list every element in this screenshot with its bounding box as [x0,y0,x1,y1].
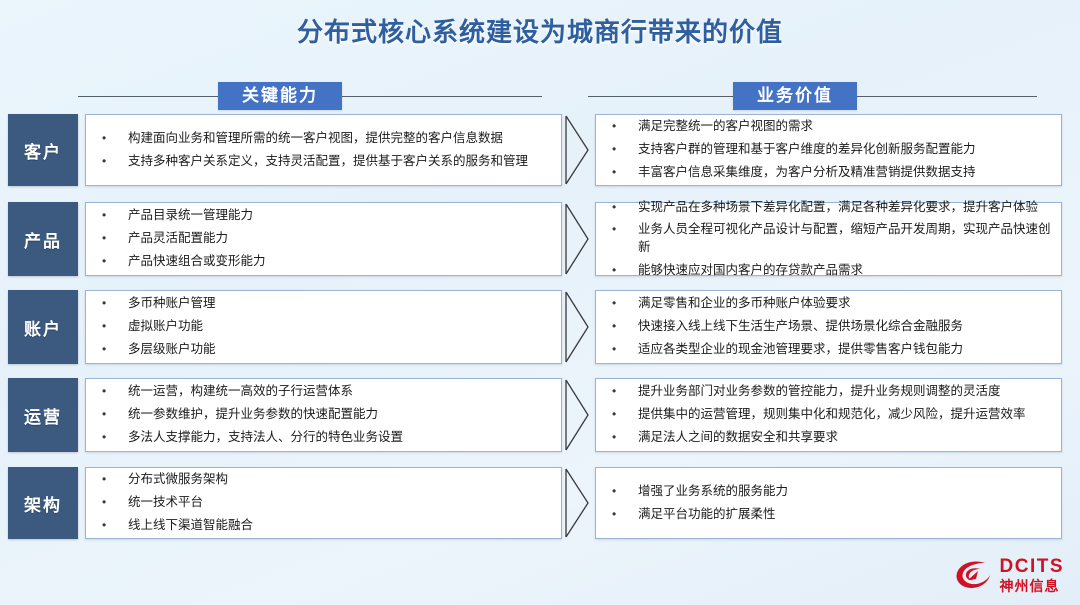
list-item: •线上线下渠道智能融合 [102,514,551,537]
chevron-right-icon [564,290,590,364]
bullet-dot-icon: • [102,318,128,335]
bullet-dot-icon: • [612,341,638,358]
column-header-business-value: 业务价值 [588,82,1066,110]
key-capability-panel[interactable]: •多币种账户管理•虚拟账户功能•多层级账户功能 [85,290,562,364]
list-item-text: 提升业务部门对业务参数的管控能力，提升业务规则调整的灵活度 [638,383,1051,401]
key-capability-panel[interactable]: •产品目录统一管理能力•产品灵活配置能力•产品快速组合或变形能力 [85,202,562,276]
key-capability-panel[interactable]: •分布式微服务架构•统一技术平台•线上线下渠道智能融合 [85,467,562,539]
company-logo: DCITS 神州信息 [954,557,1065,593]
bullet-dot-icon: • [102,494,128,511]
bullet-dot-icon: • [102,253,128,270]
capability-value-row: 架构•分布式微服务架构•统一技术平台•线上线下渠道智能融合•增强了业务系统的服务… [0,467,1080,539]
list-item: •增强了业务系统的服务能力 [612,480,1051,503]
list-item-text: 增强了业务系统的服务能力 [638,483,1051,501]
column-header-label-right: 业务价值 [733,82,857,110]
list-item: •满足法人之间的数据安全和共享要求 [612,426,1051,449]
list-item: •丰富客户信息采集维度，为客户分析及精准营销提供数据支持 [612,161,1051,184]
bullet-dot-icon: • [612,118,638,135]
list-item-text: 实现产品在多种场景下差异化配置，满足各种差异化要求，提升客户体验 [638,199,1051,217]
list-item-text: 支持客户群的管理和基于客户维度的差异化创新服务配置能力 [638,141,1051,159]
bullet-dot-icon: • [612,429,638,446]
list-item: •统一参数维护，提升业务参数的快速配置能力 [102,404,551,427]
chevron-right-icon [564,202,590,276]
list-item: •能够快速应对国内客户的存贷款产品需求 [612,259,1051,282]
list-item-text: 业务人员全程可视化产品设计与配置，缩短产品开发周期，实现产品快速创新 [638,221,1051,257]
key-capability-panel[interactable]: •构建面向业务和管理所需的统一客户视图，提供完整的客户信息数据•支持多种客户关系… [85,114,562,186]
list-item-text: 多币种账户管理 [128,295,551,313]
list-item-text: 多层级账户功能 [128,341,551,359]
list-item: •产品快速组合或变形能力 [102,250,551,273]
bullet-dot-icon: • [612,318,638,335]
business-value-panel[interactable]: •实现产品在多种场景下差异化配置，满足各种差异化要求，提升客户体验•业务人员全程… [595,202,1062,276]
row-tag-4[interactable]: 架构 [8,467,78,539]
list-item-text: 丰富客户信息采集维度，为客户分析及精准营销提供数据支持 [638,164,1051,182]
business-value-panel[interactable]: •满足完整统一的客户视图的需求•支持客户群的管理和基于客户维度的差异化创新服务配… [595,114,1062,186]
list-item: •构建面向业务和管理所需的统一客户视图，提供完整的客户信息数据 [102,127,551,150]
capability-value-row: 客户•构建面向业务和管理所需的统一客户视图，提供完整的客户信息数据•支持多种客户… [0,114,1080,186]
list-item: •产品目录统一管理能力 [102,205,551,228]
bullet-dot-icon: • [612,295,638,312]
bullet-dot-icon: • [102,230,128,247]
list-item: •适应各类型企业的现金池管理要求，提供零售客户钱包能力 [612,338,1051,361]
page-title: 分布式核心系统建设为城商行带来的价值 [0,12,1080,49]
list-item: •提升业务部门对业务参数的管控能力，提升业务规则调整的灵活度 [612,381,1051,404]
list-item: •满足平台功能的扩展柔性 [612,503,1051,526]
bullet-dot-icon: • [612,483,638,500]
list-item: •业务人员全程可视化产品设计与配置，缩短产品开发周期，实现产品快速创新 [612,219,1051,260]
bullet-dot-icon: • [612,506,638,523]
bullet-dot-icon: • [612,141,638,158]
list-item: •多层级账户功能 [102,338,551,361]
list-item-text: 满足平台功能的扩展柔性 [638,506,1051,524]
list-item: •快速接入线上线下生活生产场景、提供场景化综合金融服务 [612,316,1051,339]
column-header-label-left: 关键能力 [218,82,342,110]
list-item-text: 统一参数维护，提升业务参数的快速配置能力 [128,406,551,424]
list-item-text: 能够快速应对国内客户的存贷款产品需求 [638,262,1051,280]
header-rule-right [857,96,1037,97]
capability-value-row: 账户•多币种账户管理•虚拟账户功能•多层级账户功能•满足零售和企业的多币种账户体… [0,290,1080,364]
list-item-text: 快速接入线上线下生活生产场景、提供场景化综合金融服务 [638,318,1051,336]
bullet-dot-icon: • [102,471,128,488]
bullet-dot-icon: • [102,429,128,446]
logo-brand-cn: 神州信息 [1000,579,1065,593]
chevron-right-icon [564,114,590,186]
list-item: •多法人支撑能力，支持法人、分行的特色业务设置 [102,426,551,449]
list-item: •满足零售和企业的多币种账户体验要求 [612,293,1051,316]
list-item-text: 统一技术平台 [128,494,551,512]
list-item-text: 适应各类型企业的现金池管理要求，提供零售客户钱包能力 [638,341,1051,359]
logo-wordmark: DCITS 神州信息 [1000,557,1065,593]
list-item: •统一技术平台 [102,492,551,515]
row-tag-2[interactable]: 账户 [8,290,78,364]
capability-value-row: 运营•统一运营，构建统一高效的子行运营体系•统一参数维护，提升业务参数的快速配置… [0,378,1080,452]
bullet-dot-icon: • [102,130,128,147]
logo-brand-en: DCITS [1000,557,1065,576]
list-item-text: 线上线下渠道智能融合 [128,517,551,535]
list-item: •满足完整统一的客户视图的需求 [612,116,1051,139]
bullet-dot-icon: • [102,383,128,400]
bullet-dot-icon: • [612,164,638,181]
bullet-dot-icon: • [612,199,638,216]
bullet-dot-icon: • [102,341,128,358]
dcits-swoosh-icon [954,558,994,592]
list-item: •分布式微服务架构 [102,469,551,492]
bullet-dot-icon: • [612,406,638,423]
list-item: •支持客户群的管理和基于客户维度的差异化创新服务配置能力 [612,139,1051,162]
list-item-text: 构建面向业务和管理所需的统一客户视图，提供完整的客户信息数据 [128,130,551,148]
list-item: •产品灵活配置能力 [102,228,551,251]
row-tag-3[interactable]: 运营 [8,378,78,452]
chevron-right-icon [564,378,590,452]
business-value-panel[interactable]: •增强了业务系统的服务能力•满足平台功能的扩展柔性 [595,467,1062,539]
list-item-text: 支持多种客户关系定义，支持灵活配置，提供基于客户关系的服务和管理 [128,153,551,171]
business-value-panel[interactable]: •满足零售和企业的多币种账户体验要求•快速接入线上线下生活生产场景、提供场景化综… [595,290,1062,364]
bullet-dot-icon: • [612,262,638,279]
bullet-dot-icon: • [102,406,128,423]
business-value-panel[interactable]: •提升业务部门对业务参数的管控能力，提升业务规则调整的灵活度•提供集中的运营管理… [595,378,1062,452]
header-rule-left [588,96,733,97]
list-item-text: 多法人支撑能力，支持法人、分行的特色业务设置 [128,429,551,447]
capability-value-row: 产品•产品目录统一管理能力•产品灵活配置能力•产品快速组合或变形能力•实现产品在… [0,202,1080,276]
list-item-text: 满足法人之间的数据安全和共享要求 [638,429,1051,447]
header-rule-left [78,96,218,97]
row-tag-0[interactable]: 客户 [8,114,78,186]
bullet-dot-icon: • [102,153,128,170]
list-item-text: 产品灵活配置能力 [128,230,551,248]
list-item-text: 提供集中的运营管理，规则集中化和规范化，减少风险，提升运营效率 [638,406,1051,424]
list-item-text: 产品目录统一管理能力 [128,207,551,225]
list-item-text: 分布式微服务架构 [128,471,551,489]
header-rule-right [342,96,542,97]
bullet-dot-icon: • [612,383,638,400]
bullet-dot-icon: • [102,517,128,534]
list-item: •多币种账户管理 [102,293,551,316]
column-header-key-capability: 关键能力 [78,82,562,110]
list-item: •提供集中的运营管理，规则集中化和规范化，减少风险，提升运营效率 [612,404,1051,427]
chevron-right-icon [564,467,590,539]
list-item: •统一运营，构建统一高效的子行运营体系 [102,381,551,404]
list-item: •支持多种客户关系定义，支持灵活配置，提供基于客户关系的服务和管理 [102,150,551,173]
list-item-text: 满足完整统一的客户视图的需求 [638,118,1051,136]
list-item: •实现产品在多种场景下差异化配置，满足各种差异化要求，提升客户体验 [612,196,1051,219]
key-capability-panel[interactable]: •统一运营，构建统一高效的子行运营体系•统一参数维护，提升业务参数的快速配置能力… [85,378,562,452]
list-item: •虚拟账户功能 [102,316,551,339]
row-tag-1[interactable]: 产品 [8,202,78,276]
bullet-dot-icon: • [102,295,128,312]
list-item-text: 产品快速组合或变形能力 [128,253,551,271]
bullet-dot-icon: • [102,207,128,224]
list-item-text: 虚拟账户功能 [128,318,551,336]
bullet-dot-icon: • [612,221,638,238]
list-item-text: 统一运营，构建统一高效的子行运营体系 [128,383,551,401]
list-item-text: 满足零售和企业的多币种账户体验要求 [638,295,1051,313]
